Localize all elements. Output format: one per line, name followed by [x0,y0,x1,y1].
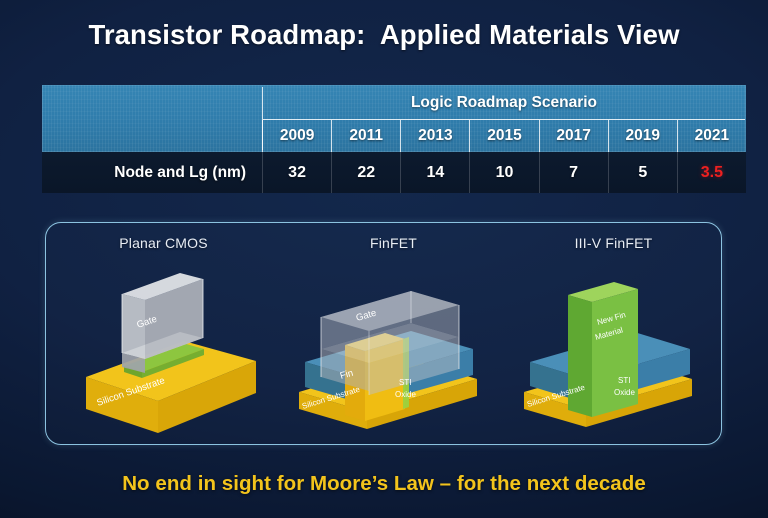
node-value-2011: 22 [331,152,400,193]
transistor-diagram-panel: Planar CMOS [45,222,722,445]
footer-caption: No end in sight for Moore’s Law – for th… [0,472,768,496]
year-cell-2017[interactable]: 2017 [539,120,608,152]
row-label-node-and-lg: Node and Lg (nm) [42,152,262,193]
node-value-2019: 5 [608,152,677,193]
node-value-2021: 3.5 [677,152,746,193]
finfet-sti-label-line1: STI [399,378,411,387]
page-title: Transistor Roadmap: Applied Materials Vi… [0,19,768,51]
node-value-2015: 10 [469,152,538,193]
node-value-2013: 14 [400,152,469,193]
iiiv-sti-label-line1: STI [618,376,630,385]
scenario-header: Logic Roadmap Scenario [262,87,746,118]
year-cell-2011[interactable]: 2011 [331,120,400,152]
iiiv-sti-label-line2: Oxide [614,388,635,397]
table-header-corner [42,85,262,152]
figure-iii-v-finfet: III-V FinFET [506,223,721,444]
slide-canvas: Transistor Roadmap: Applied Materials Vi… [0,0,768,518]
table-header: Logic Roadmap Scenario 2009 2011 2013 20… [42,85,746,152]
node-value-cells: 32 22 14 10 7 5 3.5 [262,152,746,193]
table-row: Node and Lg (nm) 32 22 14 10 7 5 3.5 [42,152,746,193]
year-cell-2015[interactable]: 2015 [469,120,538,152]
iii-v-finfet-illustration: New Fin Material STI Oxide Silicon Subst… [506,249,721,439]
node-value-2009: 32 [262,152,331,193]
year-cell-2021[interactable]: 2021 [677,120,746,152]
finfet-sti-label-line2: Oxide [395,390,416,399]
logic-roadmap-table: Logic Roadmap Scenario 2009 2011 2013 20… [42,85,746,193]
node-value-2017: 7 [539,152,608,193]
year-header-row: 2009 2011 2013 2015 2017 2019 2021 [262,120,746,152]
figure-finfet: FinFET [281,223,506,444]
planar-cmos-illustration: Gate Silicon Substrate [46,249,281,439]
year-cell-2013[interactable]: 2013 [400,120,469,152]
figure-planar-cmos: Planar CMOS [46,223,281,444]
year-cell-2019[interactable]: 2019 [608,120,677,152]
year-cell-2009[interactable]: 2009 [262,120,331,152]
finfet-illustration: Gate Fin STI Oxide Silicon Substrate [281,249,506,439]
